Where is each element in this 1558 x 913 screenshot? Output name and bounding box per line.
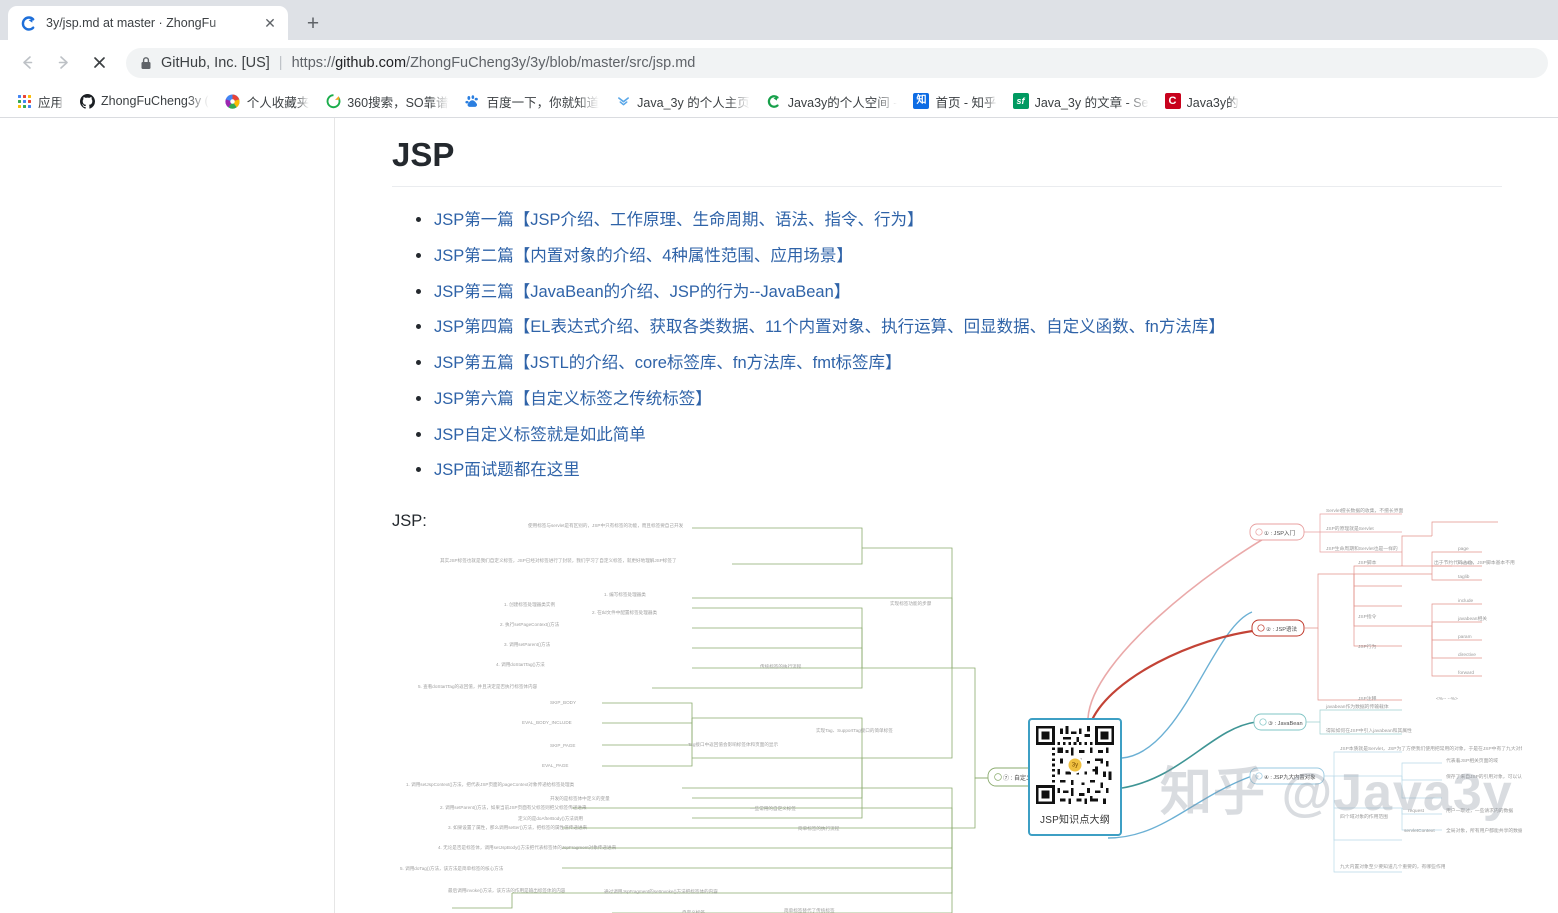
forward-button[interactable] bbox=[46, 46, 80, 80]
list-item: JSP第六篇【自定义标签之传统标签】 bbox=[434, 388, 1518, 410]
lock-icon bbox=[140, 56, 152, 70]
article-link[interactable]: JSP第四篇【EL表达式介绍、获取各类数据、11个内置对象、执行运算、回显数据、… bbox=[434, 318, 1225, 336]
qr-code-card: 3y JSP知识点大纲 bbox=[1028, 718, 1122, 836]
svg-text:Servlet擅长数据的收集，不擅长界面: Servlet擅长数据的收集，不擅长界面 bbox=[1326, 508, 1403, 514]
content-divider bbox=[334, 118, 335, 913]
svg-text:<%-- --%>: <%-- --%> bbox=[1436, 696, 1458, 702]
svg-text:javabean相关: javabean相关 bbox=[1457, 615, 1487, 622]
bookmark-zhihu[interactable]: 知 首页 - 知乎 bbox=[905, 88, 1004, 115]
tab-title: 3y/jsp.md at master · ZhongFu bbox=[46, 16, 251, 30]
site-identity-label: GitHub, Inc. [US] bbox=[161, 55, 270, 71]
bookmark-csdn-blog[interactable]: C Java3y的 bbox=[1157, 88, 1247, 115]
color-wheel-icon bbox=[225, 93, 241, 109]
svg-text:定义的是doAfterBody()方法调用: 定义的是doAfterBody()方法调用 bbox=[518, 815, 583, 822]
list-item: JSP第一篇【JSP介绍、工作原理、生命周期、语法、指令、行为】 bbox=[434, 209, 1518, 231]
svg-text:4. 调用doStartTag()方法: 4. 调用doStartTag()方法 bbox=[496, 661, 545, 668]
svg-text:SKIP_BODY: SKIP_BODY bbox=[550, 700, 576, 705]
bookmark-label: 应用 bbox=[38, 92, 63, 111]
svg-text:3. 如果设置了属性，那么调用setter()方法，把标签的: 3. 如果设置了属性，那么调用setter()方法，把标签的属性值传递进来 bbox=[448, 824, 588, 831]
qr-code-image: 3y bbox=[1036, 726, 1114, 804]
article-link-list: JSP第一篇【JSP介绍、工作原理、生命周期、语法、指令、行为】 JSP第二篇【… bbox=[392, 209, 1518, 482]
omnibox-separator: | bbox=[279, 55, 283, 71]
new-tab-button[interactable]: + bbox=[298, 8, 328, 38]
browser-toolbar: GitHub, Inc. [US] | https://github.com/Z… bbox=[0, 40, 1558, 85]
github-icon bbox=[79, 93, 95, 109]
bookmark-github[interactable]: ZhongFuCheng3y ( bbox=[71, 89, 217, 113]
bookmark-label: 个人收藏夹 bbox=[247, 92, 310, 111]
svg-text:四个域对象的作用范围: 四个域对象的作用范围 bbox=[1340, 813, 1388, 820]
svg-text:directive: directive bbox=[1458, 652, 1476, 658]
article-link[interactable]: JSP第三篇【JavaBean的介绍、JSP的行为--JavaBean】 bbox=[434, 283, 850, 301]
svg-text:实现标签功能的步骤: 实现标签功能的步骤 bbox=[890, 600, 932, 607]
svg-text:page: page bbox=[1458, 547, 1469, 552]
svg-text:通过调用JspFragment的setInvoke()方法把: 通过调用JspFragment的setInvoke()方法把标签体的内容 bbox=[604, 888, 718, 895]
bookmark-favorites[interactable]: 个人收藏夹 bbox=[217, 88, 318, 115]
svg-text:forward: forward bbox=[1458, 670, 1474, 676]
svg-text:① : JSP入门: ① : JSP入门 bbox=[1264, 529, 1296, 537]
mindmap-image: ⑦ : 自定义标签 使用标签与servlet是有区别的，JSP中只有标签的功能，… bbox=[392, 508, 1522, 913]
list-item: JSP自定义标签就是如此简单 bbox=[434, 424, 1518, 446]
article-link[interactable]: JSP面试题都在这里 bbox=[434, 461, 580, 479]
svg-text:自定义标签: 自定义标签 bbox=[682, 909, 705, 913]
svg-text:最后调用invoke()方法，该方法的作用是输出标签体的内容: 最后调用invoke()方法，该方法的作用是输出标签体的内容 bbox=[448, 887, 566, 894]
svg-text:2. 在tld文件中配置标签处理器类: 2. 在tld文件中配置标签处理器类 bbox=[592, 609, 657, 616]
markdown-content: JSP JSP第一篇【JSP介绍、工作原理、生命周期、语法、指令、行为】 JSP… bbox=[392, 118, 1518, 531]
svg-text:用户一取过，一些请求内的数据: 用户一取过，一些请求内的数据 bbox=[1446, 807, 1513, 814]
bookmark-label: ZhongFuCheng3y ( bbox=[101, 94, 209, 108]
svg-text:③ : JavaBean: ③ : JavaBean bbox=[1268, 720, 1303, 727]
svg-text:include: include bbox=[1458, 598, 1474, 604]
csdn-red-c-icon: C bbox=[1165, 93, 1181, 109]
svg-text:出于节约代码占位，JSP脚本基本不用: 出于节约代码占位，JSP脚本基本不用 bbox=[1434, 559, 1515, 566]
bookmarks-bar: 应用 ZhongFuCheng3y ( 个人收藏夹 bbox=[0, 85, 1558, 118]
svg-text:实现Tag、SupportTag接口的简单标签: 实现Tag、SupportTag接口的简单标签 bbox=[816, 727, 893, 734]
svg-text:② : JSP语法: ② : JSP语法 bbox=[1266, 625, 1298, 633]
svg-text:JSP生命周期和Servlet也是一样的: JSP生命周期和Servlet也是一样的 bbox=[1326, 545, 1398, 552]
svg-text:JSP脚本: JSP脚本 bbox=[1358, 559, 1377, 566]
svg-text:1. 编写标签处理器类: 1. 编写标签处理器类 bbox=[604, 591, 646, 598]
qr-caption: JSP知识点大纲 bbox=[1040, 811, 1110, 826]
bookmark-label: 百度一下，你就知道 bbox=[487, 92, 600, 111]
svg-text:JSP行为: JSP行为 bbox=[1358, 643, 1377, 650]
svg-text:request: request bbox=[1408, 808, 1425, 814]
mindmap-svg: ⑦ : 自定义标签 使用标签与servlet是有区别的，JSP中只有标签的功能，… bbox=[392, 508, 1522, 913]
svg-text:servletContext: servletContext bbox=[1404, 828, 1435, 834]
svg-text:简单标签的执行流程: 简单标签的执行流程 bbox=[798, 825, 840, 832]
page-viewport: JSP JSP第一篇【JSP介绍、工作原理、生命周期、语法、指令、行为】 JSP… bbox=[0, 118, 1558, 913]
svg-text:得知如何在JSP中引入javabean和其属性: 得知如何在JSP中引入javabean和其属性 bbox=[1326, 727, 1412, 734]
svg-text:Tag接口中返回值会影响标签体和页面的显示: Tag接口中返回值会影响标签体和页面的显示 bbox=[688, 741, 779, 748]
svg-text:4. 无论是否是标签体，调用setJspBody()方法把代: 4. 无论是否是标签体，调用setJspBody()方法把代表标签体的JspFr… bbox=[438, 844, 617, 851]
bookmark-label: 首页 - 知乎 bbox=[935, 92, 996, 111]
svg-text:1. 创建标签处理器类实例: 1. 创建标签处理器类实例 bbox=[504, 601, 555, 608]
svg-text:简单标签替代了传统标签: 简单标签替代了传统标签 bbox=[784, 907, 835, 913]
browser-window: 3y/jsp.md at master · ZhongFu ✕ + bbox=[0, 0, 1558, 913]
bookmark-label: Java3y的 bbox=[1187, 92, 1239, 111]
csdn-c-icon bbox=[20, 15, 37, 32]
svg-text:JSP的原理就是Servlet: JSP的原理就是Servlet bbox=[1326, 525, 1374, 532]
svg-text:JSP指令: JSP指令 bbox=[1358, 613, 1377, 620]
svg-text:1. 调用setJspContext()方法，把代表JSP页: 1. 调用setJspContext()方法，把代表JSP页面的pageCont… bbox=[406, 781, 575, 788]
list-item: JSP第三篇【JavaBean的介绍、JSP的行为--JavaBean】 bbox=[434, 281, 1518, 303]
bookmark-label: Java_3y 的个人主页 bbox=[637, 92, 750, 111]
svg-text:EVAL_BODY_INCLUDE: EVAL_BODY_INCLUDE bbox=[522, 720, 572, 725]
svg-text:保存了来自JSP的引用对象，可以认为这些都是JSP的九大内置: 保存了来自JSP的引用对象，可以认为这些都是JSP的九大内置对象 bbox=[1446, 773, 1522, 780]
zhihu-icon: 知 bbox=[913, 93, 929, 109]
bookmark-360-search[interactable]: 360搜索，SO靠谱 bbox=[317, 88, 456, 115]
svg-text:5. 查看doStartTag的返回值，并且决定是否执行标签: 5. 查看doStartTag的返回值，并且决定是否执行标签体内容 bbox=[418, 683, 538, 690]
svg-text:2. 调用setParent()方法，如果当前JSP页面有父: 2. 调用setParent()方法，如果当前JSP页面有父标签则把父标签传递进… bbox=[440, 804, 587, 811]
360-search-icon bbox=[325, 93, 341, 109]
segmentfault-icon: sf bbox=[1013, 93, 1029, 109]
qr-center-logo: 3y bbox=[1067, 757, 1084, 774]
article-link[interactable]: JSP第一篇【JSP介绍、工作原理、生命周期、语法、指令、行为】 bbox=[434, 211, 924, 229]
article-link[interactable]: JSP第五篇【JSTL的介绍、core标签库、fn方法库、fmt标签库】 bbox=[434, 354, 902, 372]
svg-text:传统标签的执行流程: 传统标签的执行流程 bbox=[760, 663, 802, 670]
svg-text:SKIP_PAGE: SKIP_PAGE bbox=[550, 743, 575, 748]
svg-text:5. 调用doTag()方法，该方法是简单标签的核心方法: 5. 调用doTag()方法，该方法是简单标签的核心方法 bbox=[400, 865, 504, 872]
article-link[interactable]: JSP第二篇【内置对象的介绍、4种属性范围、应用场景】 bbox=[434, 247, 853, 265]
browser-tab[interactable]: 3y/jsp.md at master · ZhongFu ✕ bbox=[8, 6, 288, 40]
list-item: JSP第四篇【EL表达式介绍、获取各类数据、11个内置对象、执行运算、回显数据、… bbox=[434, 316, 1518, 338]
article-link[interactable]: JSP第六篇【自定义标签之传统标签】 bbox=[434, 390, 712, 408]
csdn-c-icon bbox=[766, 93, 782, 109]
bookmark-apps[interactable]: 应用 bbox=[8, 88, 71, 115]
juejin-chevrons-icon bbox=[615, 93, 631, 109]
bookmark-csdn-space[interactable]: Java3y的个人空间 - bbox=[758, 88, 906, 115]
bookmark-label: Java_3y 的文章 - Se bbox=[1035, 92, 1149, 111]
apps-grid-icon bbox=[16, 93, 32, 109]
list-item: JSP第五篇【JSTL的介绍、core标签库、fn方法库、fmt标签库】 bbox=[434, 352, 1518, 374]
svg-text:2. 执行setPageContext()方法: 2. 执行setPageContext()方法 bbox=[500, 621, 560, 628]
close-icon[interactable]: ✕ bbox=[260, 13, 280, 33]
bookmark-segmentfault[interactable]: sf Java_3y 的文章 - Se bbox=[1005, 88, 1157, 115]
svg-text:EVAL_PAGE: EVAL_PAGE bbox=[542, 763, 568, 768]
article-link[interactable]: JSP自定义标签就是如此简单 bbox=[434, 426, 646, 444]
svg-text:3. 调用setParent()方法: 3. 调用setParent()方法 bbox=[504, 641, 551, 648]
svg-text:JSP注释: JSP注释 bbox=[1358, 695, 1377, 702]
baidu-paw-icon bbox=[465, 93, 481, 109]
tab-strip: 3y/jsp.md at master · ZhongFu ✕ + bbox=[0, 0, 1558, 40]
bookmark-baidu[interactable]: 百度一下，你就知道 bbox=[457, 88, 608, 115]
list-item: JSP第二篇【内置对象的介绍、4种属性范围、应用场景】 bbox=[434, 245, 1518, 267]
stop-loading-button[interactable] bbox=[82, 46, 116, 80]
svg-text:JSP本质就是Servlet，JSP为了方便我们使用把常用的: JSP本质就是Servlet，JSP为了方便我们使用把常用的对象，于是在JSP中… bbox=[1340, 745, 1522, 752]
svg-text:使用标签与servlet是有区别的，JSP中只有标签的功能，: 使用标签与servlet是有区别的，JSP中只有标签的功能，而且标签要自己开发 bbox=[528, 522, 684, 529]
svg-text:一些常用的自定义标签: 一些常用的自定义标签 bbox=[750, 805, 796, 812]
svg-text:其实JSP标签也就是我们自定义标签，JSP已经对标签进行了封: 其实JSP标签也就是我们自定义标签，JSP已经对标签进行了封装，我们学习了自定义… bbox=[440, 557, 677, 564]
svg-text:开发的是标签体中定义的变量: 开发的是标签体中定义的变量 bbox=[550, 795, 610, 802]
svg-text:全局对象，所有用户都能共享的数据: 全局对象，所有用户都能共享的数据 bbox=[1446, 827, 1522, 834]
svg-text:taglib: taglib bbox=[1458, 574, 1470, 580]
address-bar[interactable]: GitHub, Inc. [US] | https://github.com/Z… bbox=[126, 48, 1548, 78]
back-button[interactable] bbox=[10, 46, 44, 80]
svg-text:④ : JSP九大内置对象: ④ : JSP九大内置对象 bbox=[1264, 773, 1316, 781]
page-title: JSP bbox=[392, 118, 1502, 187]
bookmark-label: 360搜索，SO靠谱 bbox=[347, 92, 448, 111]
bookmark-label: Java3y的个人空间 - bbox=[788, 92, 898, 111]
svg-text:九大内置对象至少要知道几个重要的，有哪些作用: 九大内置对象至少要知道几个重要的，有哪些作用 bbox=[1340, 863, 1446, 870]
list-item: JSP面试题都在这里 bbox=[434, 459, 1518, 481]
svg-text:代表着JSP相关页面的域: 代表着JSP相关页面的域 bbox=[1446, 757, 1498, 764]
svg-text:include: include bbox=[1458, 560, 1474, 566]
address-bar-url: https://github.com/ZhongFuCheng3y/3y/blo… bbox=[292, 55, 696, 71]
svg-text:param: param bbox=[1458, 634, 1472, 640]
bookmark-juejin[interactable]: Java_3y 的个人主页 bbox=[607, 88, 758, 115]
svg-text:javabean作为数据的传输载体: javabean作为数据的传输载体 bbox=[1325, 703, 1389, 710]
